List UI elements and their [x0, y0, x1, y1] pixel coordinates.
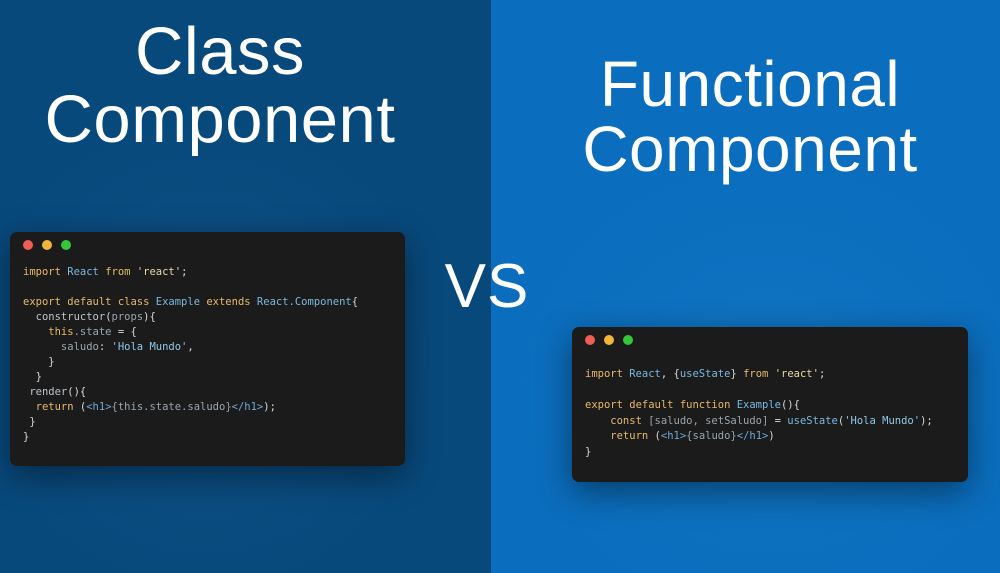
- code-token: }: [23, 371, 42, 383]
- code-line: }: [23, 430, 405, 445]
- left-panel-title: Class Component: [0, 18, 440, 155]
- maximize-dot-icon[interactable]: [61, 240, 71, 250]
- code-token: import: [23, 266, 67, 278]
- code-line: render(){: [23, 385, 405, 400]
- code-token: 'Hola Mundo': [112, 341, 188, 353]
- code-token: );: [920, 415, 933, 427]
- code-token: extends: [206, 296, 257, 308]
- vs-separator-label: VS: [432, 256, 542, 318]
- code-token: from: [743, 368, 775, 380]
- code-token: import: [585, 368, 629, 380]
- code-token: React: [629, 368, 661, 380]
- functional-component-code: import React, {useState} from 'react'; e…: [572, 353, 968, 460]
- code-token: saludo: [23, 341, 99, 353]
- minimize-dot-icon[interactable]: [42, 240, 52, 250]
- code-line: [23, 280, 405, 295]
- code-token: React.Component: [257, 296, 352, 308]
- code-token: useState: [787, 415, 838, 427]
- code-token: , {: [661, 368, 680, 380]
- code-token: return: [585, 430, 655, 442]
- code-token: [saludo, setSaludo]: [648, 415, 768, 427]
- right-panel-title: Functional Component: [510, 52, 990, 183]
- code-token: ;: [819, 368, 825, 380]
- functional-component-code-card: import React, {useState} from 'react'; e…: [572, 327, 968, 482]
- code-token: );: [263, 401, 276, 413]
- code-token: ){: [143, 311, 156, 323]
- code-line: return (<h1>{saludo}</h1>): [585, 429, 968, 445]
- code-line: [585, 383, 968, 399]
- code-token: React: [67, 266, 105, 278]
- close-dot-icon[interactable]: [23, 240, 33, 250]
- code-token: ): [768, 430, 774, 442]
- code-token: :: [99, 341, 112, 353]
- code-token: useState: [680, 368, 731, 380]
- code-line: constructor(props){: [23, 310, 405, 325]
- code-token: props: [112, 311, 144, 323]
- code-line: }: [585, 445, 968, 461]
- class-component-code: import React from 'react'; export defaul…: [10, 258, 405, 445]
- code-token: from: [105, 266, 137, 278]
- window-titlebar: [10, 232, 405, 258]
- close-dot-icon[interactable]: [585, 335, 595, 345]
- minimize-dot-icon[interactable]: [604, 335, 614, 345]
- code-line: }: [23, 355, 405, 370]
- code-token: const: [585, 415, 648, 427]
- code-token: }: [23, 356, 55, 368]
- code-token: {saludo}: [686, 430, 737, 442]
- code-line: export default function Example(){: [585, 398, 968, 414]
- code-token: .state: [74, 326, 112, 338]
- code-token: <h1>: [86, 401, 111, 413]
- code-token: render: [23, 386, 67, 398]
- code-line: this.state = {: [23, 325, 405, 340]
- code-line: }: [23, 370, 405, 385]
- comparison-graphic: Class Component Functional Component VS …: [0, 0, 1000, 573]
- code-token: {this.state.saludo}: [112, 401, 232, 413]
- code-token: ;: [181, 266, 187, 278]
- code-token: }: [23, 416, 36, 428]
- code-token: export default class: [23, 296, 156, 308]
- code-line: import React, {useState} from 'react';: [585, 367, 968, 383]
- code-token: </h1>: [737, 430, 769, 442]
- code-token: export default function: [585, 399, 737, 411]
- maximize-dot-icon[interactable]: [623, 335, 633, 345]
- code-token: (){: [781, 399, 800, 411]
- code-token: <h1>: [661, 430, 686, 442]
- code-token: this: [23, 326, 74, 338]
- code-token: }: [730, 368, 743, 380]
- code-line: const [saludo, setSaludo] = useState('Ho…: [585, 414, 968, 430]
- code-line: saludo: 'Hola Mundo',: [23, 340, 405, 355]
- code-token: }: [585, 446, 591, 458]
- code-token: </h1>: [232, 401, 264, 413]
- code-token: = {: [112, 326, 137, 338]
- code-token: (){: [67, 386, 86, 398]
- code-token: {: [352, 296, 358, 308]
- code-token: ,: [187, 341, 193, 353]
- code-token: =: [768, 415, 787, 427]
- code-token: return: [23, 401, 80, 413]
- code-line: }: [23, 415, 405, 430]
- code-token: 'react': [775, 368, 819, 380]
- code-line: import React from 'react';: [23, 265, 405, 280]
- code-token: Example: [737, 399, 781, 411]
- class-component-code-card: import React from 'react'; export defaul…: [10, 232, 405, 466]
- code-token: constructor: [23, 311, 105, 323]
- code-token: 'Hola Mundo': [844, 415, 920, 427]
- code-line: export default class Example extends Rea…: [23, 295, 405, 310]
- code-token: 'react': [137, 266, 181, 278]
- code-token: }: [23, 431, 29, 443]
- window-titlebar: [572, 327, 968, 353]
- code-line: return (<h1>{this.state.saludo}</h1>);: [23, 400, 405, 415]
- code-token: Example: [156, 296, 207, 308]
